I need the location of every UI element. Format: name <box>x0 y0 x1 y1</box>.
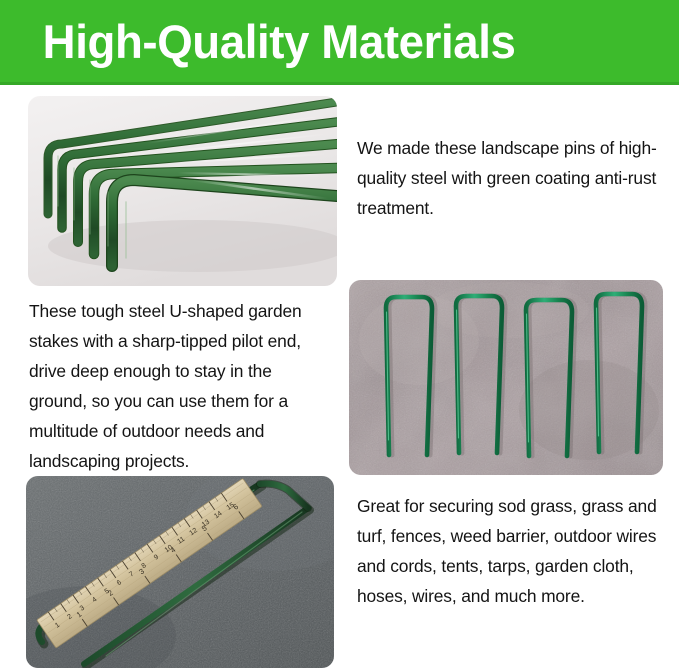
photo-stacked-u-stakes <box>28 96 337 286</box>
ruler-illustration: 1 2 3 4 5 6 7 8 9 10 11 12 13 14 15 <box>26 476 334 668</box>
paragraph-materials: We made these landscape pins of high-qua… <box>357 133 657 223</box>
header-banner: High-Quality Materials <box>0 0 679 85</box>
page-title: High-Quality Materials <box>0 18 515 65</box>
stacked-stakes-illustration <box>28 96 337 286</box>
paragraph-stakes: These tough steel U-shaped garden stakes… <box>29 296 329 476</box>
paragraph-uses: Great for securing sod grass, grass and … <box>357 491 657 611</box>
photo-four-pins-on-concrete <box>349 280 663 475</box>
four-pins-illustration <box>349 280 663 475</box>
photo-stake-with-ruler: 1 2 3 4 5 6 7 8 9 10 11 12 13 14 15 <box>26 476 334 668</box>
